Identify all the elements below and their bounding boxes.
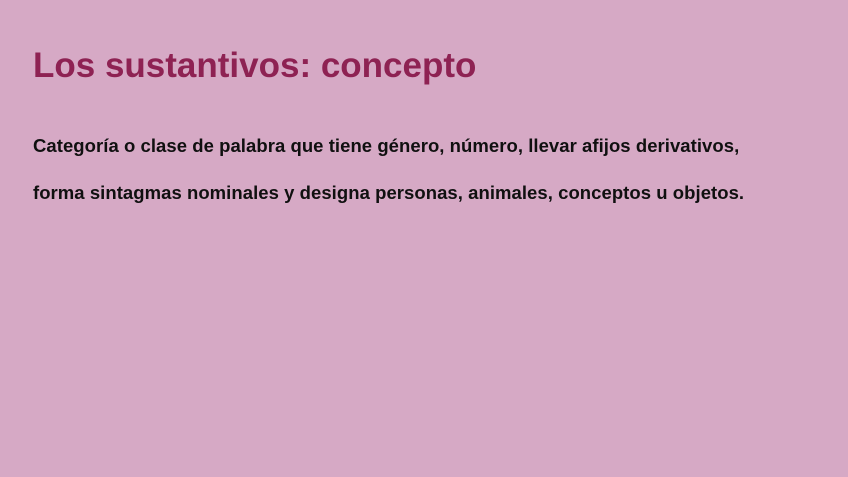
body-line: Categoría o clase de palabra que tiene g… xyxy=(33,131,823,160)
slide-body-text: Categoría o clase de palabra que tiene g… xyxy=(33,112,823,226)
page-title: Los sustantivos: concepto xyxy=(33,45,476,87)
slide-canvas: Los sustantivos: concepto Categoría o cl… xyxy=(0,0,848,477)
body-line: forma sintagmas nominales y designa pers… xyxy=(33,178,823,207)
